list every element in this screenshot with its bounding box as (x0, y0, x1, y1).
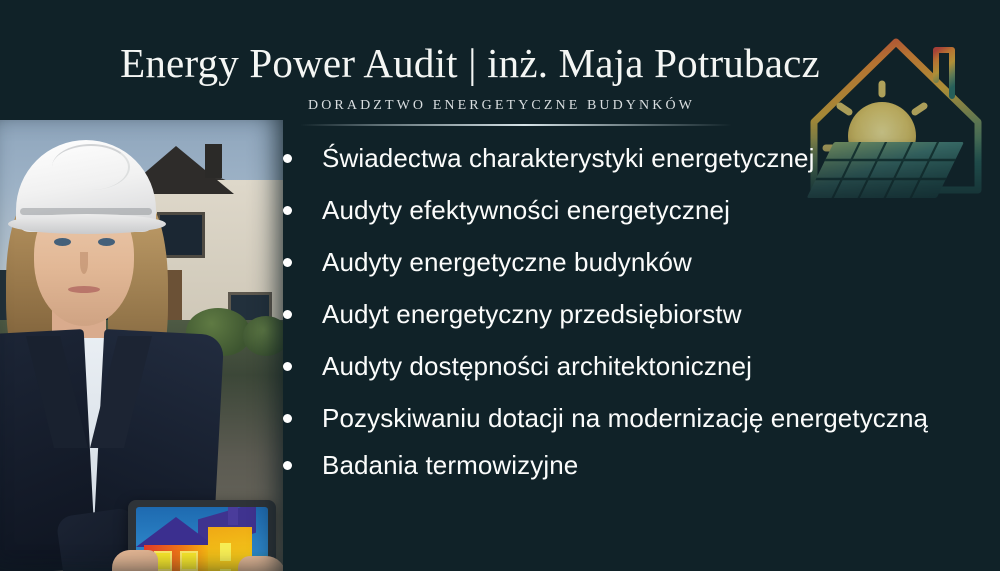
service-label: Świadectwa charakterystyki energetycznej (322, 140, 978, 177)
service-label: Audyty dostępności architektonicznej (322, 348, 978, 385)
energy-audit-banner: Energy Power Audit | inż. Maja Potrubacz… (0, 0, 1000, 571)
bullet-dot-icon (283, 258, 292, 267)
list-item: Audyty energetyczne budynków (278, 244, 978, 281)
bullet-dot-icon (283, 461, 292, 470)
service-label: Badania termowizyjne (322, 447, 978, 484)
list-item: Audyt energetyczny przedsiębiorstw (278, 296, 978, 333)
bullet-dot-icon (283, 414, 292, 423)
service-label: Audyty efektywności energetycznej (322, 192, 978, 229)
bullet-dot-icon (283, 310, 292, 319)
service-label: Audyty energetyczne budynków (322, 244, 978, 281)
bullet-dot-icon (283, 206, 292, 215)
service-label: Pozyskiwaniu dotacji na modernizację ene… (322, 400, 978, 437)
list-item: Pozyskiwaniu dotacji na modernizację ene… (278, 400, 978, 437)
services-list: Świadectwa charakterystyki energetycznej… (278, 140, 978, 499)
page-subtitle: DORADZTWO ENERGETYCZNE BUDYNKÓW (0, 98, 1000, 114)
list-item: Audyty dostępności architektonicznej (278, 348, 978, 385)
energy-auditor-with-thermal-tablet-photo (0, 120, 283, 571)
photo-edge-vignette (0, 120, 283, 571)
page-title: Energy Power Audit | inż. Maja Potrubacz (0, 38, 940, 88)
bullet-dot-icon (283, 362, 292, 371)
service-label: Audyt energetyczny przedsiębiorstw (322, 296, 978, 333)
list-item: Świadectwa charakterystyki energetycznej (278, 140, 978, 177)
list-item: Audyty efektywności energetycznej (278, 192, 978, 229)
banner-header: Energy Power Audit | inż. Maja Potrubacz… (0, 0, 1000, 132)
list-item: Badania termowizyjne (278, 447, 978, 484)
bullet-dot-icon (283, 154, 292, 163)
header-divider (300, 124, 732, 126)
